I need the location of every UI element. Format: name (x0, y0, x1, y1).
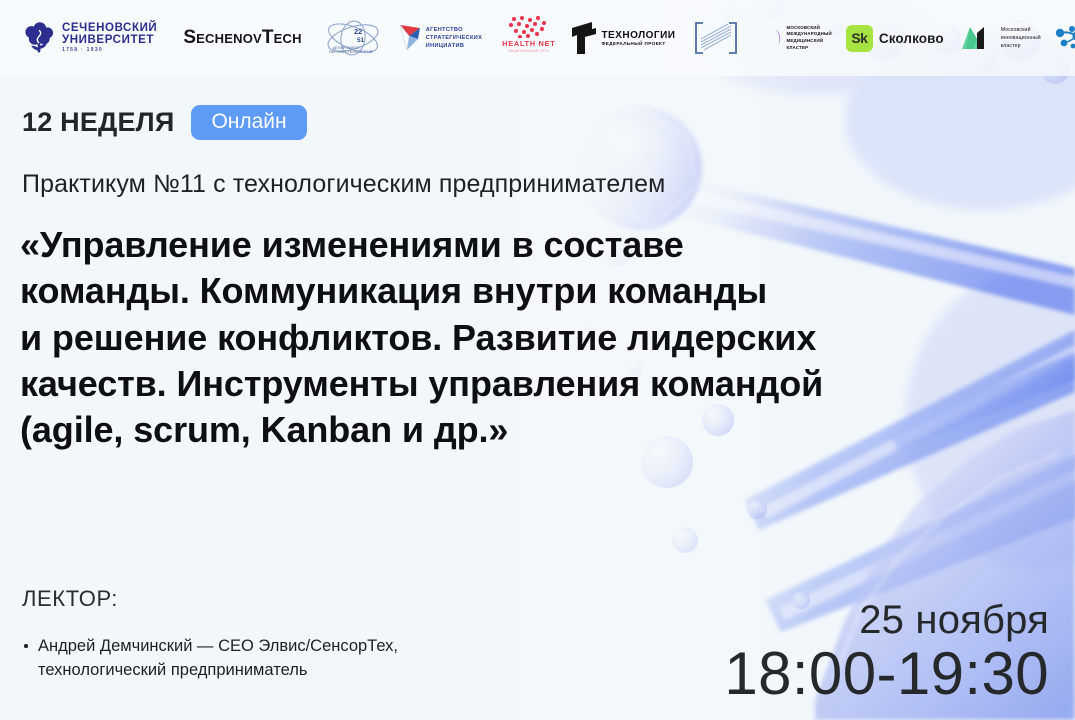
logo-moscow-intl-medical-cluster: МОСКОВСКИЙ МЕЖДУНАРОДНЫЙ МЕДИЦИНСКИЙ КЛА… (755, 15, 831, 61)
logo-agency-strategic-initiatives: АГЕНТСТВО СТРАТЕГИЧЕСКИХ ИНИЦИАТИВ (398, 15, 482, 61)
partner-logo-bar: СЕЧЕНОВСКИЙ УНИВЕРСИТЕТ 1758 · 1930 Sech… (0, 0, 1075, 76)
mcit-molecule-icon (1055, 25, 1075, 51)
logo-department-science-technology: 22 51 ДЕПАРТАМЕНТ НАУЧНЫХ ТЕХНОЛОГИЙ (324, 15, 382, 61)
asi-arrow-icon (398, 23, 422, 53)
lecturer-role-continued: технологический предприниматель (38, 658, 562, 682)
lecturer-list: Андрей Демчинский — CEO Элвис/СенсорТех,… (22, 634, 562, 683)
svg-text:51: 51 (357, 37, 365, 44)
title-line-5: (agile, scrum, Kanban и др.» (20, 407, 920, 453)
asi-wordmark: АГЕНТСТВО СТРАТЕГИЧЕСКИХ ИНИЦИАТИВ (426, 26, 482, 50)
mimc-line-3: МЕДИЦИНСКИЙ (786, 38, 831, 45)
mimc-wordmark: МОСКОВСКИЙ МЕЖДУНАРОДНЫЙ МЕДИЦИНСКИЙ КЛА… (786, 25, 831, 51)
logo-tekhnologii: ТЕХНОЛОГИИ ФЕДЕРАЛЬНЫЙ ПРОЕКТ (571, 15, 675, 61)
session-title: «Управление изменениями в составе команд… (20, 222, 920, 453)
week-header-row: 12 НЕДЕЛЯ Онлайн (22, 105, 307, 140)
logo-sechenov-university: СЕЧЕНОВСКИЙ УНИВЕРСИТЕТ 1758 · 1930 (22, 15, 157, 61)
tekhnologii-wordmark: ТЕХНОЛОГИИ ФЕДЕРАЛЬНЫЙ ПРОЕКТ (601, 30, 675, 46)
skolkovo-wordmark: Сколково (879, 31, 944, 46)
mic-line-2: инновационный (1001, 34, 1041, 42)
logo-sechenovtech: SechenovTech (183, 15, 301, 61)
skolkovo-mark-icon: Sk (846, 25, 873, 52)
mimc-blob-icon (755, 24, 783, 52)
tekhnologii-line-1: ТЕХНОЛОГИИ (601, 30, 675, 41)
logo-moscow-center-innovative-medtech: МОСКОВСКИЙ ЦЕНТР ИННОВАЦИОННЫХ ТЕХНОЛОГИ… (1055, 15, 1075, 61)
sechenov-tree-icon (22, 21, 56, 55)
lecturer-section: ЛЕКТОР: Андрей Демчинский — CEO Элвис/Се… (22, 586, 562, 683)
title-line-2: команды. Коммуникация внутри команды (20, 268, 920, 314)
asi-line-2: СТРАТЕГИЧЕСКИХ (426, 34, 482, 42)
title-line-1: «Управление изменениями в составе (20, 222, 920, 268)
week-label: 12 НЕДЕЛЯ (22, 107, 174, 138)
schedule-block: 25 ноября 18:00-19:30 (724, 599, 1049, 710)
asi-line-1: АГЕНТСТВО (426, 26, 482, 34)
tekhnologii-line-2: ФЕДЕРАЛЬНЫЙ ПРОЕКТ (601, 41, 675, 46)
session-subtitle: Практикум №11 с технологическим предприн… (22, 170, 665, 199)
mimc-line-2: МЕЖДУНАРОДНЫЙ (786, 31, 831, 38)
logo-health-net: HEALTH NET НАЦИОНАЛЬНАЯ СЕТЬ (502, 15, 555, 61)
logo-moscow-innovation-cluster: Московский инновационный кластер (960, 15, 1041, 61)
mic-line-1: Московский (1001, 26, 1041, 34)
svg-text:22: 22 (354, 27, 362, 36)
health-net-dots-icon (506, 15, 552, 38)
asi-line-3: ИНИЦИАТИВ (426, 42, 482, 50)
health-net-subtitle: НАЦИОНАЛЬНАЯ СЕТЬ (508, 49, 549, 53)
atom-orbit-icon: 22 51 ДЕПАРТАМЕНТ НАУЧНЫХ ТЕХНОЛОГИЙ (324, 18, 382, 58)
lecturer-heading: ЛЕКТОР: (22, 586, 562, 612)
logo-bracket-mark (693, 15, 739, 61)
logo-skolkovo: Sk Сколково (846, 15, 944, 61)
health-net-title: HEALTH NET (502, 39, 555, 48)
title-line-4: качеств. Инструменты управления командой (20, 361, 920, 407)
sechenov-line-2: УНИВЕРСИТЕТ (62, 35, 157, 47)
status-badge-format: Онлайн (191, 105, 306, 140)
mic-line-3: кластер (1001, 42, 1041, 50)
mic-wordmark: Московский инновационный кластер (1001, 26, 1041, 50)
title-line-3: и решение конфликтов. Развитие лидерских (20, 315, 920, 361)
sechenovtech-wordmark: SechenovTech (183, 27, 301, 49)
schedule-time: 18:00-19:30 (724, 639, 1049, 710)
mic-mark-icon (960, 25, 996, 51)
mimc-line-1: МОСКОВСКИЙ (786, 25, 831, 32)
bracket-icon (693, 21, 739, 55)
slide-root: СЕЧЕНОВСКИЙ УНИВЕРСИТЕТ 1758 · 1930 Sech… (0, 0, 1075, 720)
lecturer-name-role: Андрей Демчинский — CEO Элвис/СенсорТех, (38, 637, 398, 655)
tekhnologii-mark-icon (571, 21, 597, 55)
mimc-line-4: КЛАСТЕР (786, 45, 831, 52)
svg-text:НАУЧНЫХ ТЕХНОЛОГИЙ: НАУЧНЫХ ТЕХНОЛОГИЙ (329, 50, 373, 54)
sechenov-line-3: 1758 · 1930 (62, 48, 157, 53)
schedule-date: 25 ноября (724, 599, 1049, 641)
list-item: Андрей Демчинский — CEO Элвис/СенсорТех,… (22, 634, 562, 683)
sechenov-wordmark: СЕЧЕНОВСКИЙ УНИВЕРСИТЕТ 1758 · 1930 (62, 23, 157, 53)
